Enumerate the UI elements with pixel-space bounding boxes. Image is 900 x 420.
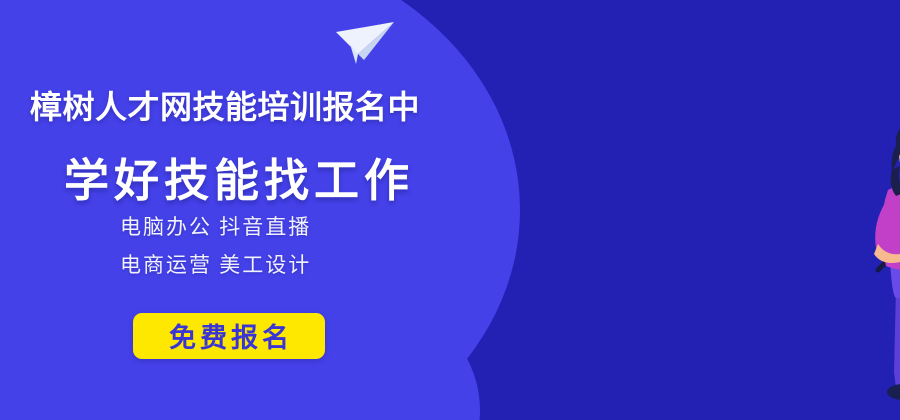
promo-banner: 樟树人才网技能培训报名中 学好技能找工作 电脑办公 抖音直播 电商运营 美工设计… (0, 0, 900, 420)
shoe (887, 384, 900, 400)
page-title: 樟树人才网技能培训报名中 (30, 82, 420, 128)
page-subtitle: 学好技能找工作 (64, 144, 414, 209)
course-list-line-1: 电脑办公 抖音直播 (120, 211, 311, 241)
hair (892, 124, 900, 172)
free-signup-button[interactable]: 免费报名 (133, 313, 325, 359)
course-list-line-2: 电商运营 美工设计 (120, 249, 311, 279)
illustration (470, 0, 900, 420)
copy-block: 樟树人才网技能培训报名中 学好技能找工作 电脑办公 抖音直播 电商运营 美工设计… (0, 0, 470, 420)
figure-teacher (866, 120, 900, 420)
